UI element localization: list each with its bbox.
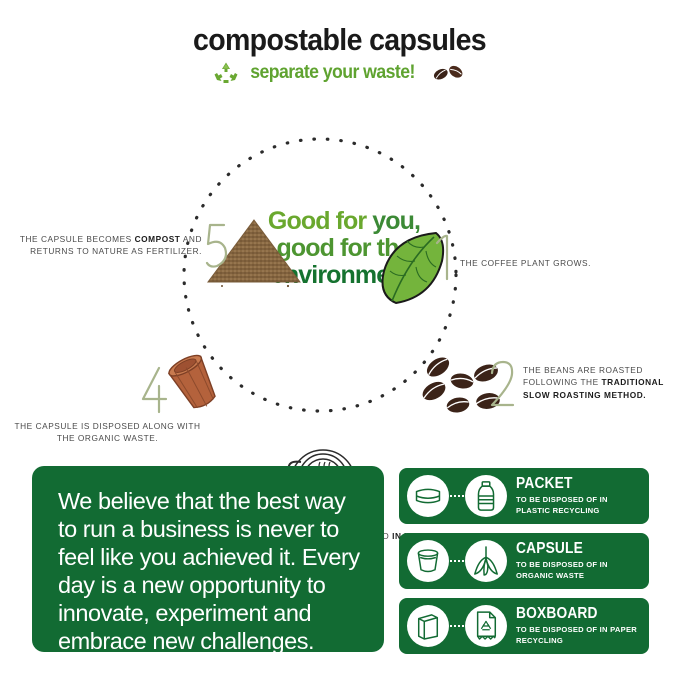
link-dots <box>449 605 465 647</box>
link-dots <box>449 475 465 517</box>
step-number-2 <box>487 358 517 410</box>
box-icon <box>415 611 441 641</box>
quote-panel: We believe that the best way to run a bu… <box>32 466 384 652</box>
disposal-card-boxboard[interactable]: BOXBOARD TO BE DISPOSED OF IN PAPER RECY… <box>399 598 649 654</box>
header: compostable capsules separate your waste… <box>0 24 679 85</box>
capsule-text: CAPSULE TO BE DISPOSED OF INORGANIC WAST… <box>516 541 608 580</box>
page-title: compostable capsules <box>27 24 652 55</box>
quote-text: We believe that the best way to run a bu… <box>58 488 360 656</box>
link-dots <box>449 540 465 582</box>
capsule-cup-icon <box>414 547 442 575</box>
lifecycle-diagram: Good for you, good for the environment. … <box>0 100 679 450</box>
capsule-cup-icon-circle <box>407 540 449 582</box>
infographic-page: compostable capsules separate your waste… <box>0 0 679 679</box>
packet-icon-circle <box>407 475 449 517</box>
packet-subtitle: TO BE DISPOSED OF INPLASTIC RECYCLING <box>516 495 608 515</box>
header-beans-icon <box>430 62 466 84</box>
capsule-subtitle: TO BE DISPOSED OF INORGANIC WASTE <box>516 560 608 580</box>
recycle-icon <box>213 61 239 85</box>
plastic-bottle-icon <box>473 480 499 512</box>
paper-recycling-icon-circle <box>465 605 507 647</box>
boxboard-text: BOXBOARD TO BE DISPOSED OF IN PAPER RECY… <box>516 606 649 645</box>
plastic-bottle-icon-circle <box>465 475 507 517</box>
capsule-title: CAPSULE <box>516 541 595 557</box>
header-subtitle: separate your waste! <box>251 62 416 84</box>
boxboard-title: BOXBOARD <box>516 606 630 622</box>
packet-title: PACKET <box>516 476 595 492</box>
step-5-caption: THE CAPSULE BECOMES COMPOST AND RETURNS … <box>12 233 202 258</box>
step-4-caption: THE CAPSULE IS DISPOSED ALONG WITH THE O… <box>10 420 205 445</box>
boxboard-subtitle: TO BE DISPOSED OF IN PAPER RECYCLING <box>516 625 649 645</box>
banana-peel-icon <box>472 545 500 577</box>
packet-icon <box>413 481 443 511</box>
step-number-1 <box>432 232 456 284</box>
disposal-cards: PACKET TO BE DISPOSED OF INPLASTIC RECYC… <box>399 468 649 663</box>
step-1-caption: THE COFFEE PLANT GROWS. <box>460 257 650 269</box>
disposal-card-packet[interactable]: PACKET TO BE DISPOSED OF INPLASTIC RECYC… <box>399 468 649 524</box>
capsule-icon <box>160 352 232 420</box>
step-number-4 <box>139 364 169 416</box>
header-subtitle-row: separate your waste! <box>0 61 679 85</box>
step-number-5 <box>202 220 232 272</box>
step-2-caption: THE BEANS ARE ROASTED FOLLOWING THE TRAD… <box>523 364 675 401</box>
paper-recycling-icon <box>473 610 499 642</box>
packet-text: PACKET TO BE DISPOSED OF INPLASTIC RECYC… <box>516 476 608 515</box>
banana-peel-icon-circle <box>465 540 507 582</box>
disposal-card-capsule[interactable]: CAPSULE TO BE DISPOSED OF INORGANIC WAST… <box>399 533 649 589</box>
box-icon-circle <box>407 605 449 647</box>
